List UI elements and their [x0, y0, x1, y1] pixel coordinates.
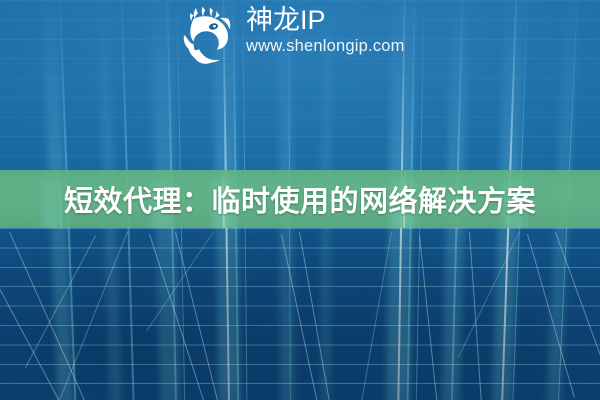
- brand-logo: 神龙IP www.shenlongip.com: [176, 4, 405, 67]
- brand-text-block: 神龙IP www.shenlongip.com: [246, 4, 405, 58]
- banner-image: 神龙IP www.shenlongip.com 短效代理：临时使用的网络解决方案: [0, 0, 600, 400]
- brand-website-url: www.shenlongip.com: [246, 36, 405, 57]
- brand-name-cn: 神龙IP: [246, 6, 405, 34]
- page-title: 短效代理：临时使用的网络解决方案: [64, 178, 536, 220]
- headline-band: 短效代理：临时使用的网络解决方案: [0, 170, 600, 228]
- dragon-head-icon: [176, 5, 240, 67]
